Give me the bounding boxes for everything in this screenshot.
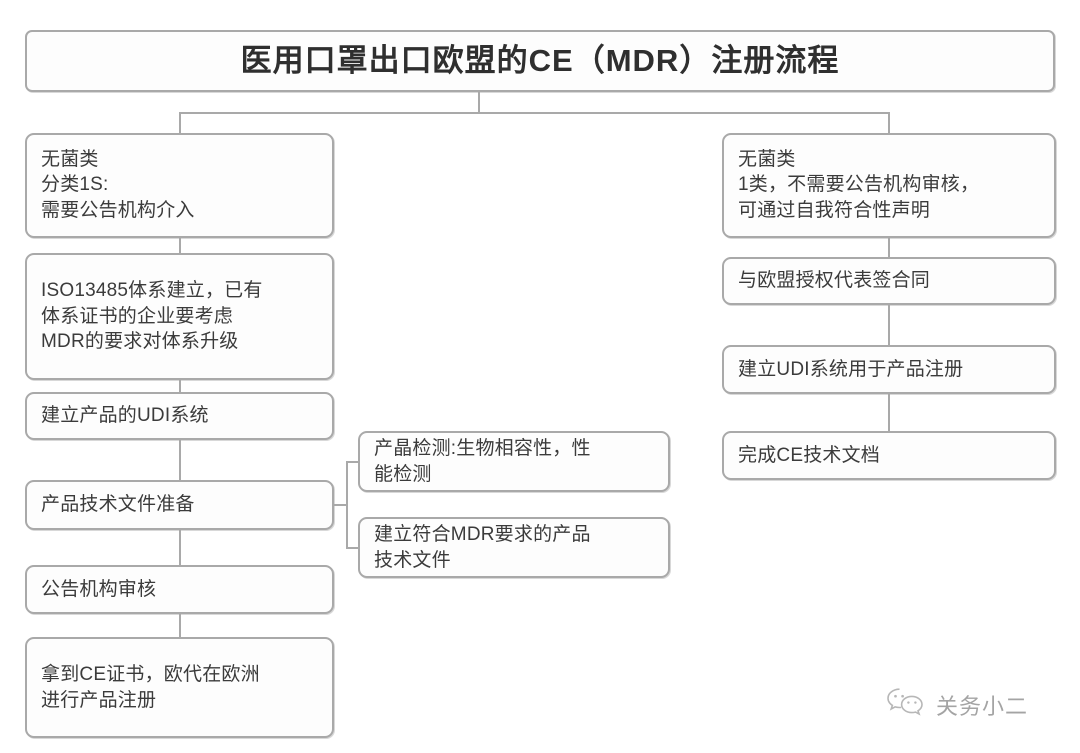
connector-branch-vertical — [346, 461, 348, 548]
left-step-6-ce-certificate: 拿到CE证书，欧代在欧洲 进行产品注册 — [25, 637, 334, 738]
left-step-5-notified-body-audit: 公告机构审核 — [25, 565, 334, 614]
connector-title-down — [478, 92, 480, 113]
left-step-2-iso13485: ISO13485体系建立，已有 体系证书的企业要考虑 MDR的要求对体系升级 — [25, 253, 334, 380]
connector-left-5-6 — [179, 614, 181, 637]
wechat-icon — [885, 686, 927, 723]
connector-right-3-4 — [888, 394, 890, 431]
connector-left-4-5 — [179, 530, 181, 565]
mid-step-1-product-testing: 产晶检测:生物相容性，性 能检测 — [358, 431, 670, 492]
right-step-2-ec-rep-contract: 与欧盟授权代表签合同 — [722, 257, 1056, 305]
right-step-1-sterile-class-1: 无菌类 1类，不需要公告机构审核， 可通过自我符合性声明 — [722, 133, 1056, 238]
connector-title-split — [179, 112, 890, 114]
connector-to-right-branch — [888, 112, 890, 133]
left-step-4-technical-file-prep: 产品技术文件准备 — [25, 480, 334, 530]
connector-left-1-2 — [179, 238, 181, 253]
left-step-1-sterile-class-1s: 无菌类 分类1S: 需要公告机构介入 — [25, 133, 334, 238]
connector-left-3-4 — [179, 440, 181, 480]
watermark-label: 关务小二 — [936, 689, 1028, 721]
connector-right-1-2 — [888, 238, 890, 257]
watermark: 关务小二 — [885, 686, 1028, 723]
page-title: 医用口罩出口欧盟的CE（MDR）注册流程 — [25, 30, 1055, 92]
connector-right-2-3 — [888, 305, 890, 345]
right-step-3-udi-for-registration: 建立UDI系统用于产品注册 — [722, 345, 1056, 394]
mid-step-2-mdr-technical-file: 建立符合MDR要求的产品 技术文件 — [358, 517, 670, 578]
right-step-4-ce-technical-doc: 完成CE技术文档 — [722, 431, 1056, 480]
connector-to-left-branch — [179, 112, 181, 133]
left-step-3-udi-system: 建立产品的UDI系统 — [25, 392, 334, 440]
flowchart-canvas: 医用口罩出口欧盟的CE（MDR）注册流程 无菌类 分类1S: 需要公告机构介入 … — [0, 0, 1080, 753]
connector-left-2-3 — [179, 380, 181, 392]
